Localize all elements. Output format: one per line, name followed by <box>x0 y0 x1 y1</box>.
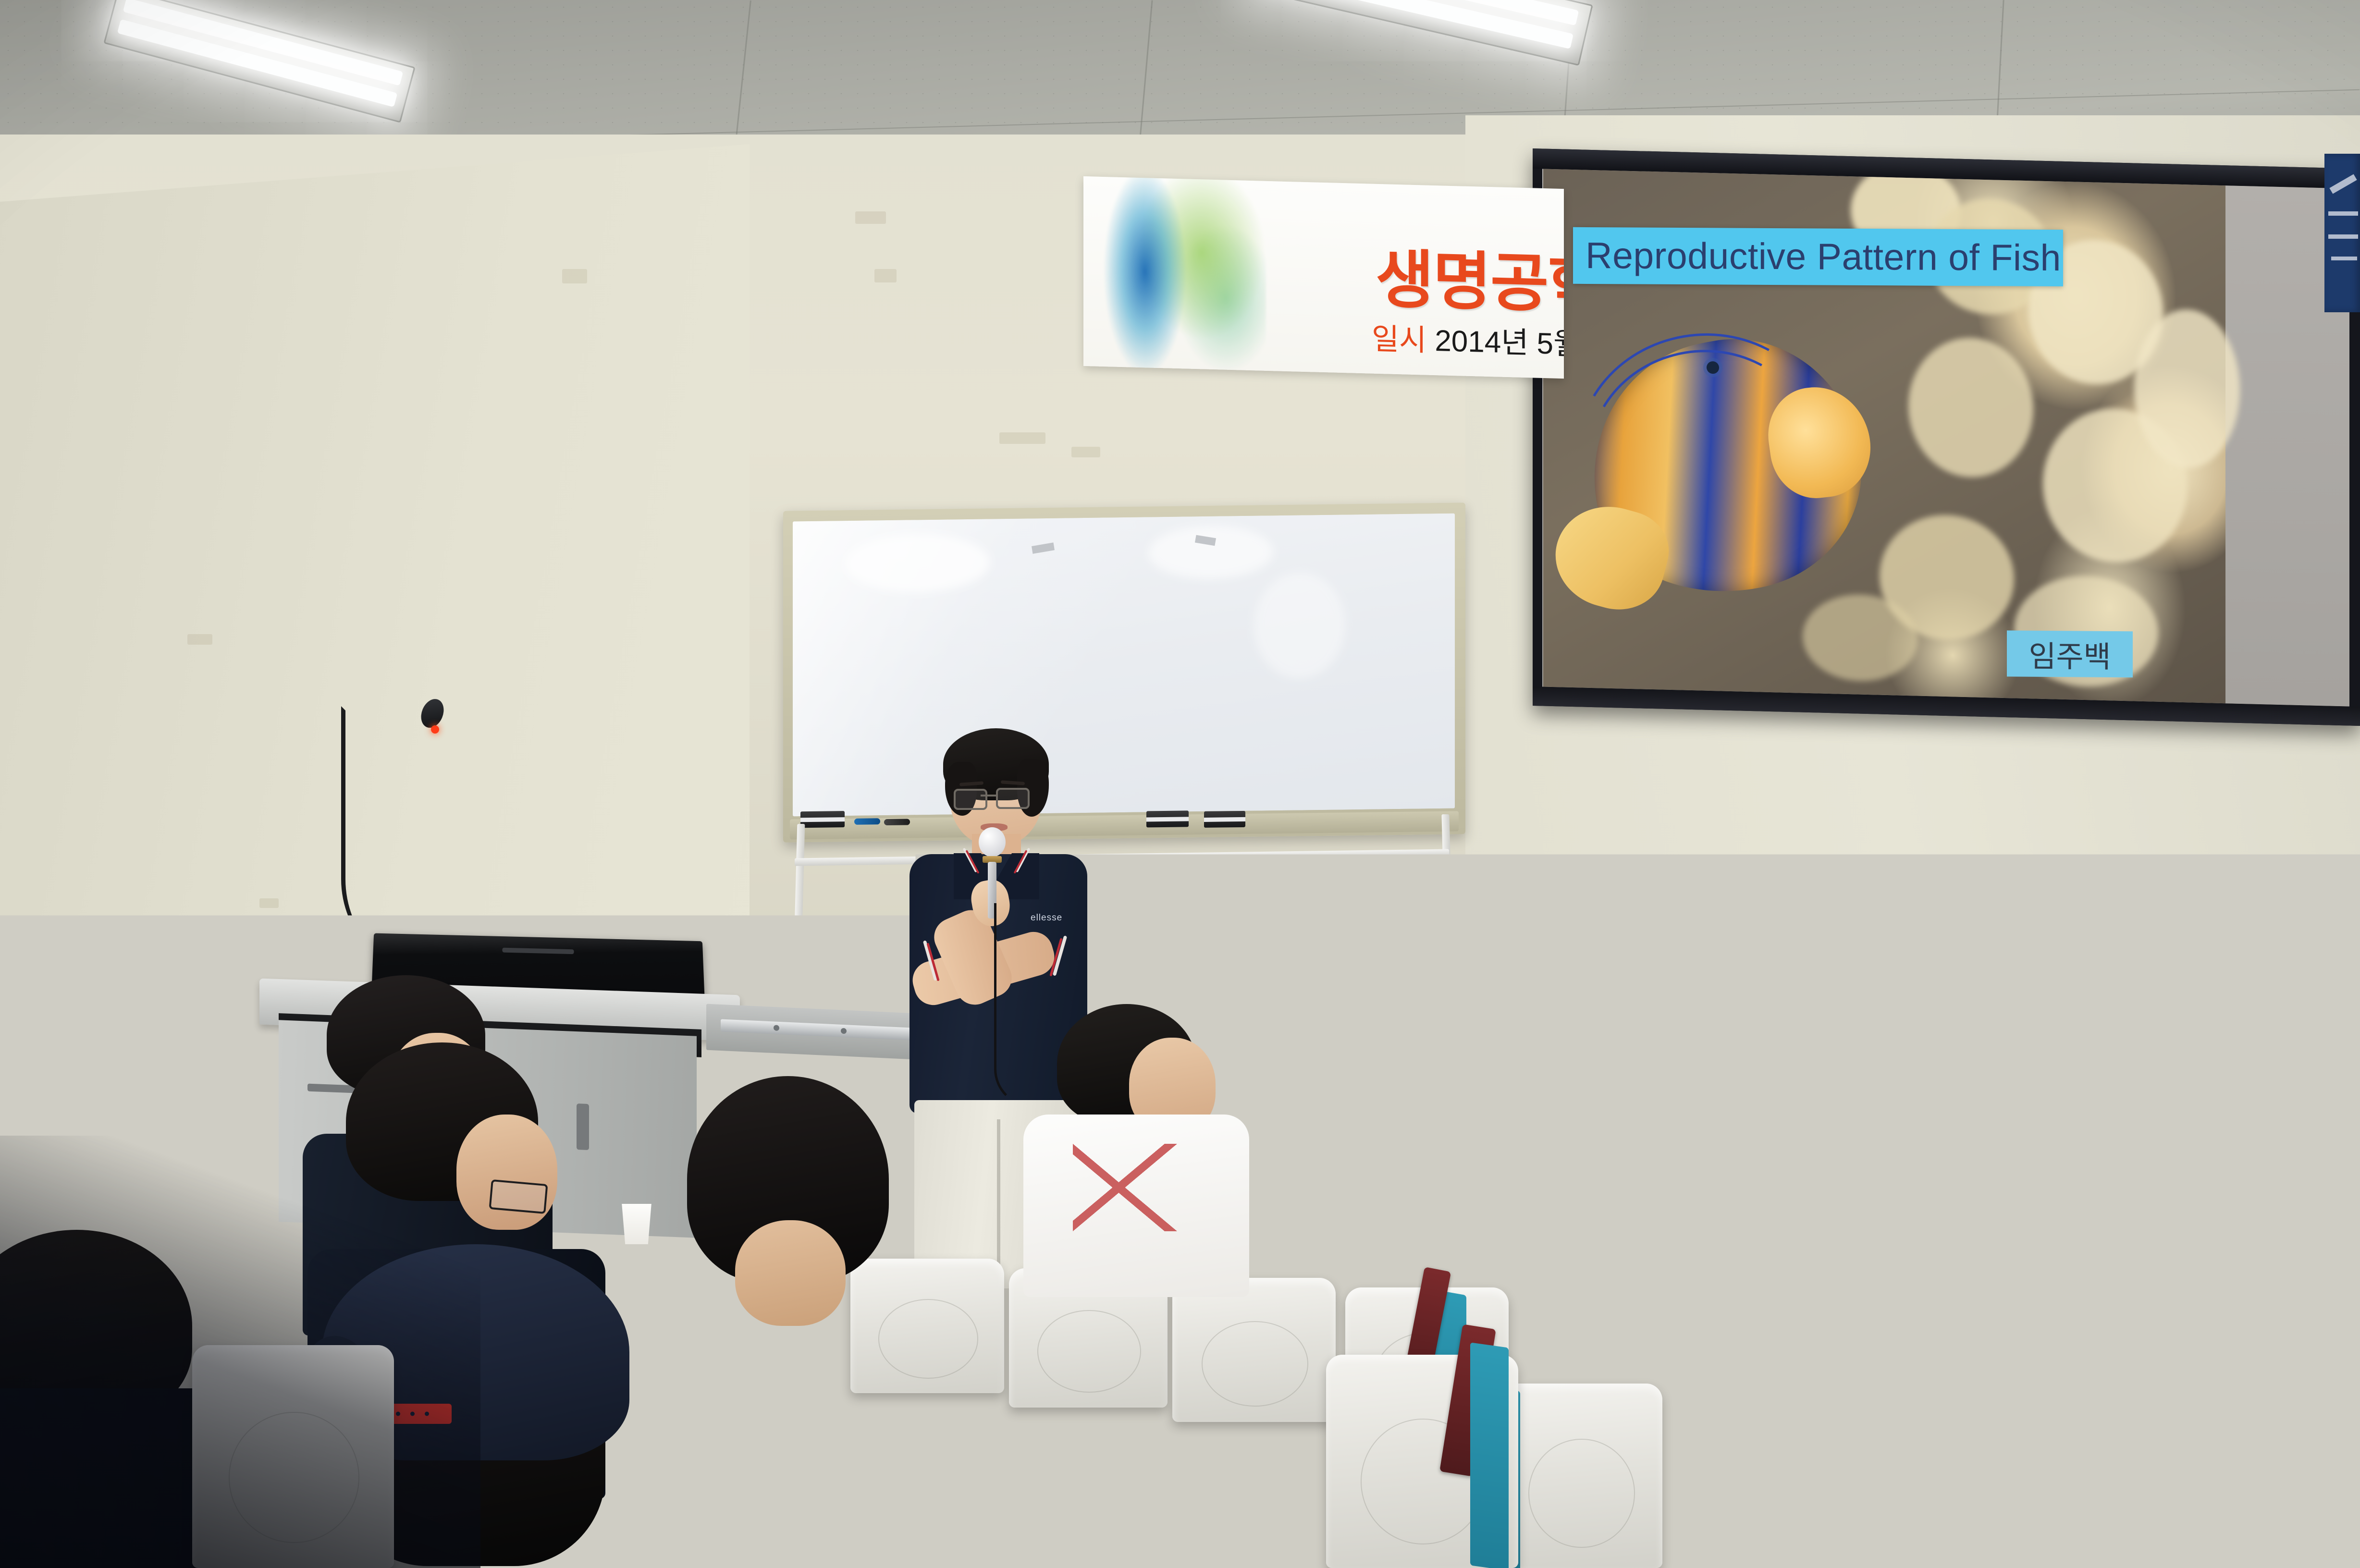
presenter-glasses <box>996 788 1030 809</box>
paper-cup[interactable] <box>716 1436 774 1504</box>
banner-title: 생명공학 <box>1376 228 1564 326</box>
whiteboard-assembly <box>783 507 1465 1088</box>
slide-presenter-badge: 임주백 <box>2007 630 2133 677</box>
whiteboard-marker[interactable] <box>854 818 880 825</box>
wall-mark <box>1071 447 1100 457</box>
banner-graphic <box>1083 176 1266 378</box>
whiteboard-eraser[interactable] <box>800 811 845 828</box>
wall-mark <box>874 269 897 282</box>
seat-side-panel <box>1470 1342 1509 1568</box>
floor-reflection <box>1715 1393 1850 1437</box>
slide-title: Reproductive Pattern of Fish <box>1573 227 2063 286</box>
slide-surface: Reproductive Pattern of Fish 임주백 <box>1542 169 2349 706</box>
tape-mark <box>1032 542 1055 554</box>
wall-mark <box>855 211 886 224</box>
paper-cup[interactable] <box>620 1204 653 1244</box>
wall-mark <box>187 634 212 645</box>
slide-title-text: Reproductive Pattern of Fish <box>1573 234 2061 279</box>
seat[interactable] <box>192 1345 394 1568</box>
audience-glasses <box>66 1194 128 1229</box>
seat[interactable] <box>1499 1384 1662 1568</box>
wall-mark <box>259 898 279 908</box>
microphone-cable <box>994 903 1049 1107</box>
banner-date-label: 일시 <box>1372 323 1426 357</box>
slide-photo-fish-coral: Reproductive Pattern of Fish 임주백 <box>1543 169 2225 703</box>
seat[interactable] <box>1086 1340 1288 1552</box>
audience-glasses <box>489 1179 548 1214</box>
paper-cup[interactable] <box>309 939 345 973</box>
presenter-glasses <box>954 789 987 810</box>
whiteboard-frame <box>783 502 1465 842</box>
wall-mark <box>999 432 1045 444</box>
event-banner: 생명공학 일시 2014년 5월 <box>1083 176 1564 379</box>
slide-presenter-name: 임주백 <box>2028 632 2111 676</box>
blue-wall-poster <box>2324 154 2360 312</box>
banner-subtitle: 일시 2014년 5월 <box>1372 315 1564 363</box>
angelfish-illustration <box>1562 313 1899 629</box>
banner-date-value: 2014년 5월 <box>1435 324 1564 361</box>
lecture-hall-scene: Reproductive Pattern of Fish 임주백 생명공학 일시… <box>0 0 2360 1568</box>
mic-indicator-led <box>431 725 439 734</box>
wall-mark <box>562 269 587 283</box>
seat[interactable] <box>2268 1393 2360 1568</box>
projector-screen: Reproductive Pattern of Fish 임주백 <box>1533 148 2360 726</box>
whiteboard-eraser[interactable] <box>1146 810 1189 827</box>
shirt-collar <box>764 1286 855 1329</box>
audience-shirt <box>1023 1115 1249 1297</box>
whiteboard-eraser[interactable] <box>1204 811 1245 828</box>
